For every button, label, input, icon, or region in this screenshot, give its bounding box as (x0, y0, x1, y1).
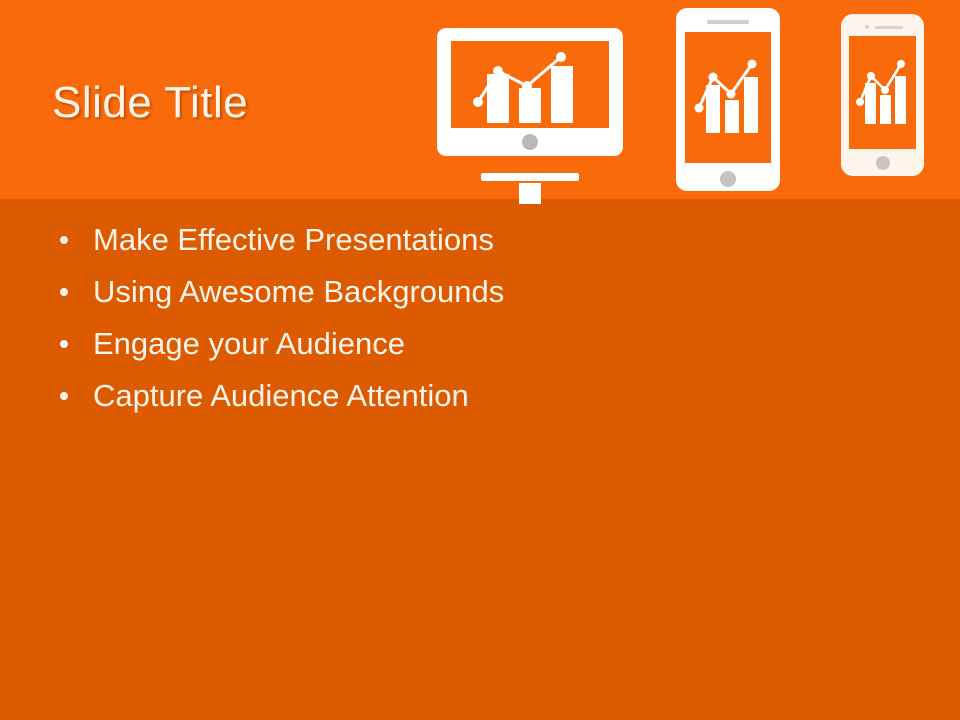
phone-chart-graphic (849, 36, 916, 149)
list-item: Engage your Audience (55, 318, 755, 370)
tablet-chart-graphic (685, 32, 771, 163)
monitor-stand-neck (519, 183, 541, 204)
monitor-icon (437, 28, 623, 156)
phone-camera (865, 25, 869, 29)
list-item: Using Awesome Backgrounds (55, 266, 755, 318)
bullet-marker-icon (60, 288, 68, 296)
device-illustration-group (0, 0, 960, 199)
bullet-marker-icon (60, 236, 68, 244)
list-item-label: Engage your Audience (93, 326, 405, 361)
list-item-label: Make Effective Presentations (93, 222, 494, 257)
tablet-home-button (720, 171, 736, 187)
list-item: Capture Audience Attention (55, 370, 755, 422)
tablet-icon (676, 8, 780, 191)
presentation-slide: Slide Title (0, 0, 960, 720)
phone-speaker (875, 26, 903, 29)
list-item-label: Using Awesome Backgrounds (93, 274, 504, 309)
monitor-chart-graphic (451, 41, 609, 128)
monitor-screen (451, 41, 609, 128)
tablet-speaker (707, 20, 749, 24)
slide-bullet-list: Make Effective Presentations Using Aweso… (55, 214, 755, 422)
phone-icon (841, 14, 924, 176)
tablet-screen (685, 32, 771, 163)
bullet-marker-icon (60, 340, 68, 348)
bullet-marker-icon (60, 392, 68, 400)
monitor-stand-base (481, 173, 579, 181)
phone-screen (849, 36, 916, 149)
list-item: Make Effective Presentations (55, 214, 755, 266)
list-item-label: Capture Audience Attention (93, 378, 469, 413)
phone-home-button (876, 156, 890, 170)
monitor-power-indicator (522, 134, 538, 150)
